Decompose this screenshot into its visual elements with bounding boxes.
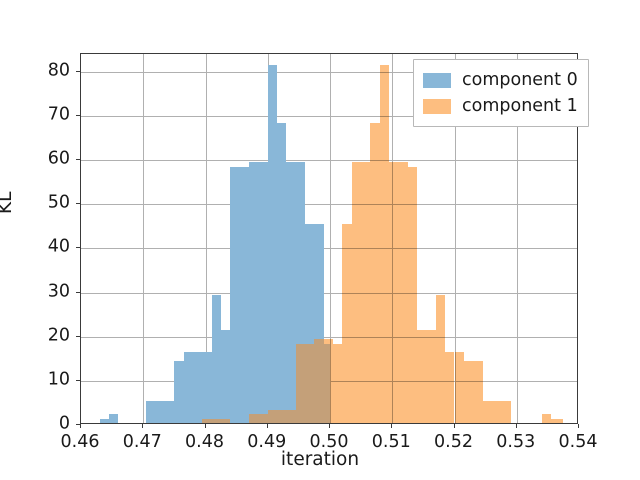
x-axis-tick-mark	[80, 424, 81, 428]
histogram-bar	[240, 167, 249, 423]
y-axis-tick-label: 30	[18, 283, 70, 301]
y-axis-tick-mark	[76, 71, 80, 72]
histogram-bar	[333, 344, 342, 424]
y-axis-tick-label: 70	[18, 106, 70, 124]
histogram-bar	[184, 352, 193, 423]
x-axis-tick-mark	[578, 424, 579, 428]
histogram-bar	[342, 224, 351, 423]
x-axis-tick-mark	[142, 424, 143, 428]
y-axis-tick-mark	[76, 203, 80, 204]
histogram-bar	[202, 419, 211, 423]
x-axis-tick-mark	[205, 424, 206, 428]
y-axis-tick-label: 60	[18, 150, 70, 168]
histogram-bar	[436, 295, 445, 423]
chart-legend[interactable]: component 0 component 1	[413, 59, 589, 127]
histogram-bar	[408, 167, 417, 423]
legend-item-component-1[interactable]: component 1	[423, 93, 578, 119]
legend-swatch-icon-component-0	[423, 73, 451, 88]
histogram-bar	[146, 401, 155, 423]
histogram-bar	[249, 414, 258, 423]
histogram-bar	[174, 361, 183, 423]
y-axis-tick-mark	[76, 292, 80, 293]
y-axis-tick-mark	[76, 115, 80, 116]
histogram-bar	[277, 123, 286, 423]
histogram-bar	[193, 352, 202, 423]
histogram-bar	[165, 401, 174, 423]
x-axis-tick-mark	[391, 424, 392, 428]
y-axis-tick-label: 80	[18, 62, 70, 80]
histogram-bar	[268, 65, 277, 423]
histogram-bar	[221, 419, 230, 423]
y-axis-tick-mark	[76, 247, 80, 248]
histogram-bar	[230, 167, 239, 423]
histogram-bar	[361, 162, 370, 423]
y-axis-tick-label: 10	[18, 371, 70, 389]
x-axis-label: iteration	[0, 449, 640, 470]
histogram-bar	[258, 414, 267, 423]
histogram-figure: 0.460.470.480.490.500.510.520.530.540102…	[0, 0, 640, 480]
x-axis-tick-mark	[267, 424, 268, 428]
legend-label-component-1: component 1	[462, 96, 578, 116]
histogram-bar	[202, 352, 211, 423]
legend-item-component-0[interactable]: component 0	[423, 67, 578, 93]
histogram-bar	[100, 419, 109, 423]
histogram-bar	[305, 344, 314, 424]
histogram-bar	[417, 330, 426, 423]
histogram-bar	[268, 410, 277, 423]
histogram-bar	[426, 330, 435, 423]
histogram-bar	[324, 344, 330, 424]
histogram-bar	[551, 419, 563, 423]
histogram-bar	[455, 352, 464, 423]
x-axis-tick-mark	[516, 424, 517, 428]
y-axis-tick-label: 40	[18, 239, 70, 257]
y-axis-label: KL	[0, 192, 16, 214]
y-axis-tick-mark	[76, 336, 80, 337]
histogram-bar	[398, 162, 407, 423]
histogram-bar	[286, 162, 295, 423]
histogram-bar	[109, 414, 118, 423]
histogram-bar	[221, 330, 230, 423]
histogram-bar	[296, 344, 305, 424]
histogram-bar	[473, 361, 482, 423]
histogram-bar	[464, 361, 473, 423]
histogram-bar	[483, 401, 492, 423]
y-axis-tick-label: 50	[18, 194, 70, 212]
histogram-bar	[258, 162, 267, 423]
histogram-bar	[156, 401, 165, 423]
y-axis-tick-label: 20	[18, 327, 70, 345]
histogram-bar	[501, 401, 510, 423]
legend-label-component-0: component 0	[462, 70, 578, 90]
histogram-bar	[389, 162, 398, 423]
histogram-bar	[277, 410, 286, 423]
histogram-bar	[314, 339, 323, 423]
legend-swatch-icon-component-1	[423, 99, 451, 114]
y-axis-tick-mark	[76, 380, 80, 381]
y-axis-tick-label: 0	[18, 415, 70, 433]
histogram-bar	[370, 123, 379, 423]
y-axis-tick-mark	[76, 159, 80, 160]
histogram-bar	[249, 162, 258, 423]
histogram-bar	[212, 295, 221, 423]
histogram-bar	[492, 401, 501, 423]
x-axis-tick-mark	[454, 424, 455, 428]
histogram-bar	[445, 352, 454, 423]
x-axis-tick-mark	[329, 424, 330, 428]
y-axis-tick-mark	[76, 424, 80, 425]
histogram-bar	[286, 410, 295, 423]
histogram-bar	[380, 65, 389, 423]
histogram-bar	[212, 419, 221, 423]
histogram-bar	[352, 162, 361, 423]
histogram-bar	[542, 414, 551, 423]
